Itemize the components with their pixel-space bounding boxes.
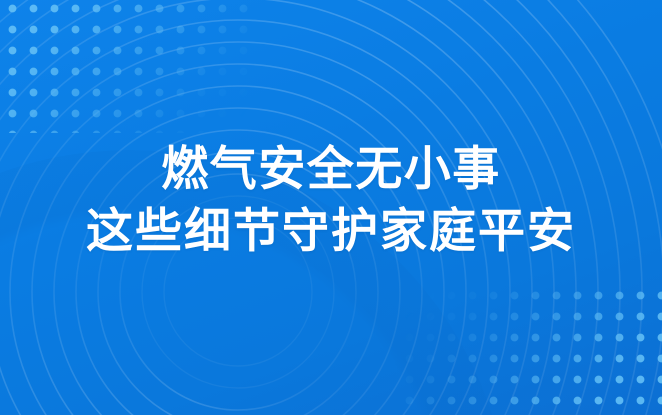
headline-line-1: 燃气安全无小事 — [0, 138, 662, 200]
gas-safety-banner: 燃气安全无小事 这些细节守护家庭平安 — [0, 0, 662, 415]
headline-block: 燃气安全无小事 这些细节守护家庭平安 — [0, 138, 662, 262]
headline-line-2: 这些细节守护家庭平安 — [0, 200, 662, 262]
